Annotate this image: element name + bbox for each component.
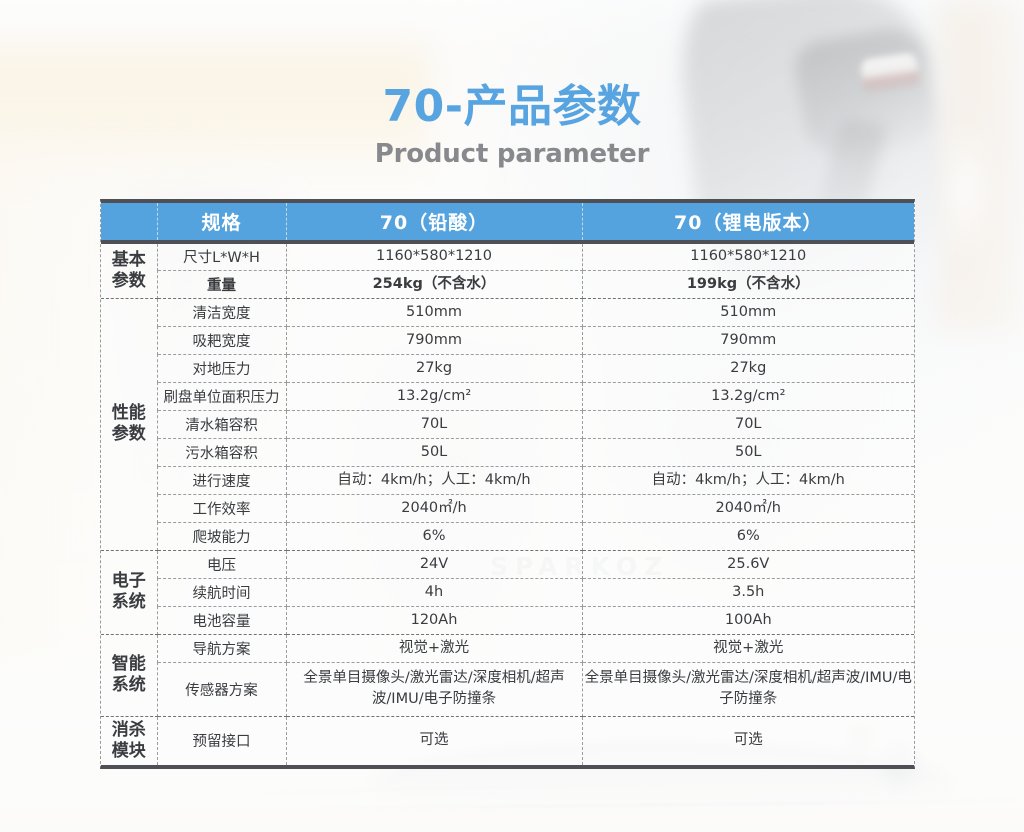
group-label-line: 参数 xyxy=(112,424,146,444)
group-label-line: 电子 xyxy=(112,571,146,591)
spec-item-label: 对地压力 xyxy=(157,354,286,382)
table-row: 爬坡能力 6% 6% xyxy=(101,522,914,550)
spec-item-label: 吸耙宽度 xyxy=(157,326,286,354)
group-label-disinfection: 消杀 模块 xyxy=(101,716,157,765)
spec-value-lithium: 199kg（不含水） xyxy=(582,270,914,298)
table-row: 电池容量 120Ah 100Ah xyxy=(101,606,914,634)
spec-value-lead-acid: 2040㎡/h xyxy=(286,494,582,522)
header-cell-model-lead-acid: 70（铅酸） xyxy=(286,203,582,242)
table-row: 对地压力 27kg 27kg xyxy=(101,354,914,382)
spec-value-lead-acid: 120Ah xyxy=(286,606,582,634)
spec-value-lithium: 27kg xyxy=(582,354,914,382)
table-row: 污水箱容积 50L 50L xyxy=(101,438,914,466)
spec-table: 规格 70（铅酸） 70（锂电版本） 基本 参数 尺寸L*W*H 1160*58… xyxy=(101,203,914,765)
spec-value-lithium: 50L xyxy=(582,438,914,466)
spec-value-lead-acid: 全景单目摄像头/激光雷达/深度相机/超声波/IMU/电子防撞条 xyxy=(286,662,582,716)
group-label-line: 性能 xyxy=(112,403,146,423)
table-row: 工作效率 2040㎡/h 2040㎡/h xyxy=(101,494,914,522)
table-body: 基本 参数 尺寸L*W*H 1160*580*1210 1160*580*121… xyxy=(101,242,914,765)
spec-value-lead-acid: 自动：4km/h；人工：4km/h xyxy=(286,466,582,494)
spec-value-lead-acid: 视觉+激光 xyxy=(286,634,582,662)
header-cell-model-lithium: 70（锂电版本） xyxy=(582,203,914,242)
spec-value-lead-acid: 13.2g/cm² xyxy=(286,382,582,410)
header-cell-spec: 规格 xyxy=(157,203,286,242)
spec-table-container: 规格 70（铅酸） 70（锂电版本） 基本 参数 尺寸L*W*H 1160*58… xyxy=(100,199,915,769)
spec-value-lithium: 视觉+激光 xyxy=(582,634,914,662)
table-row: 传感器方案 全景单目摄像头/激光雷达/深度相机/超声波/IMU/电子防撞条 全景… xyxy=(101,662,914,716)
spec-value-lithium: 3.5h xyxy=(582,578,914,606)
group-label-line: 基本 xyxy=(112,250,146,270)
spec-value-lead-acid: 510mm xyxy=(286,298,582,326)
table-row: 刷盘单位面积压力 13.2g/cm² 13.2g/cm² xyxy=(101,382,914,410)
spec-item-label: 爬坡能力 xyxy=(157,522,286,550)
spec-value-lead-acid: 254kg（不含水） xyxy=(286,270,582,298)
table-row: 续航时间 4h 3.5h xyxy=(101,578,914,606)
table-header-row: 规格 70（铅酸） 70（锂电版本） xyxy=(101,203,914,242)
table-row: 基本 参数 尺寸L*W*H 1160*580*1210 1160*580*121… xyxy=(101,242,914,270)
spec-value-lithium: 1160*580*1210 xyxy=(582,242,914,270)
spec-item-label: 预留接口 xyxy=(157,716,286,765)
group-label-line: 系统 xyxy=(112,675,146,695)
spec-value-lead-acid: 4h xyxy=(286,578,582,606)
spec-item-label: 电池容量 xyxy=(157,606,286,634)
group-label-line: 系统 xyxy=(112,592,146,612)
table-row: 智能 系统 导航方案 视觉+激光 视觉+激光 xyxy=(101,634,914,662)
spec-value-lead-acid: 790mm xyxy=(286,326,582,354)
spec-value-lead-acid: 6% xyxy=(286,522,582,550)
spec-value-lead-acid: 70L xyxy=(286,410,582,438)
spec-value-lead-acid: 50L xyxy=(286,438,582,466)
group-label-basic: 基本 参数 xyxy=(101,242,157,298)
spec-value-lead-acid: 1160*580*1210 xyxy=(286,242,582,270)
table-row: 重量 254kg（不含水） 199kg（不含水） xyxy=(101,270,914,298)
group-label-performance: 性能 参数 xyxy=(101,298,157,550)
group-label-intelligent: 智能 系统 xyxy=(101,634,157,716)
spec-value-lithium: 100Ah xyxy=(582,606,914,634)
group-label-line: 智能 xyxy=(112,654,146,674)
spec-item-label: 清洁宽度 xyxy=(157,298,286,326)
spec-item-label: 电压 xyxy=(157,550,286,578)
spec-item-label: 污水箱容积 xyxy=(157,438,286,466)
spec-value-lithium: 自动：4km/h；人工：4km/h xyxy=(582,466,914,494)
spec-value-lithium: 全景单目摄像头/激光雷达/深度相机/超声波/IMU/电子防撞条 xyxy=(582,662,914,716)
table-row: 吸耙宽度 790mm 790mm xyxy=(101,326,914,354)
spec-item-label: 导航方案 xyxy=(157,634,286,662)
spec-value-lithium: 6% xyxy=(582,522,914,550)
spec-item-label: 重量 xyxy=(157,270,286,298)
spec-value-lead-acid: 27kg xyxy=(286,354,582,382)
group-label-line: 模块 xyxy=(112,741,146,761)
spec-value-lithium: 510mm xyxy=(582,298,914,326)
table-row: 进行速度 自动：4km/h；人工：4km/h 自动：4km/h；人工：4km/h xyxy=(101,466,914,494)
spec-value-lithium: 2040㎡/h xyxy=(582,494,914,522)
table-row: 消杀 模块 预留接口 可选 可选 xyxy=(101,716,914,765)
spec-item-label: 进行速度 xyxy=(157,466,286,494)
table-row: 电子 系统 电压 24V 25.6V xyxy=(101,550,914,578)
spec-item-label: 尺寸L*W*H xyxy=(157,242,286,270)
spec-value-lithium: 790mm xyxy=(582,326,914,354)
spec-value-lithium: 25.6V xyxy=(582,550,914,578)
spec-item-label: 续航时间 xyxy=(157,578,286,606)
spec-value-lithium: 13.2g/cm² xyxy=(582,382,914,410)
spec-item-label: 传感器方案 xyxy=(157,662,286,716)
spec-value-lithium: 70L xyxy=(582,410,914,438)
spec-item-label: 刷盘单位面积压力 xyxy=(157,382,286,410)
group-label-line: 参数 xyxy=(112,271,146,291)
spec-value-lead-acid: 可选 xyxy=(286,716,582,765)
spec-value-lead-acid: 24V xyxy=(286,550,582,578)
group-label-electronic: 电子 系统 xyxy=(101,550,157,634)
spec-item-label: 工作效率 xyxy=(157,494,286,522)
header-cell-group-blank xyxy=(101,203,157,242)
spec-value-lithium: 可选 xyxy=(582,716,914,765)
table-row: 清水箱容积 70L 70L xyxy=(101,410,914,438)
group-label-line: 消杀 xyxy=(112,720,146,740)
spec-item-label: 清水箱容积 xyxy=(157,410,286,438)
table-row: 性能 参数 清洁宽度 510mm 510mm xyxy=(101,298,914,326)
